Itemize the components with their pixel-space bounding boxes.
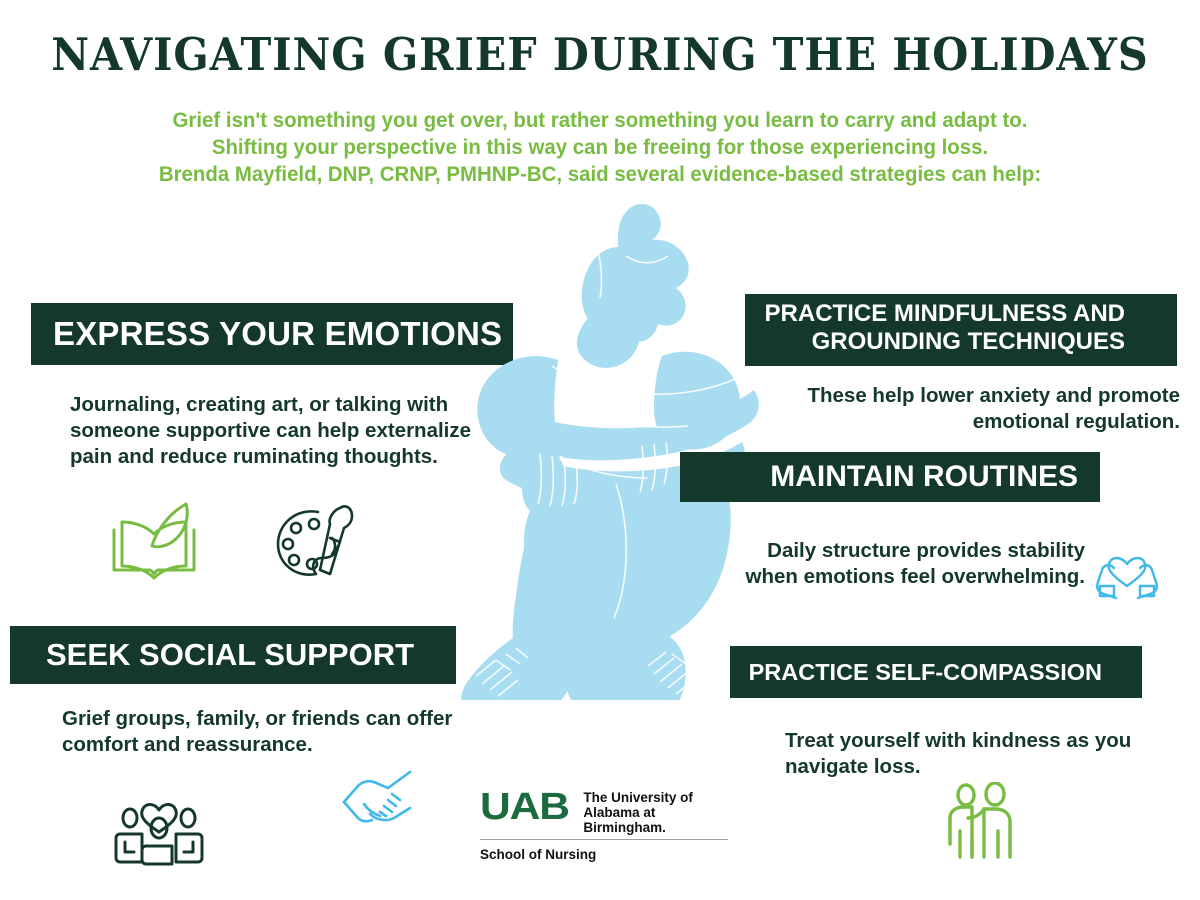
journal-quill-icon — [108, 500, 200, 582]
page-subtitle: Grief isn't something you get over, but … — [30, 107, 1170, 188]
section-heading-practice-self-compassion: PRACTICE SELF-COMPASSION — [730, 646, 1142, 698]
section-body-practice-mindfulness: These help lower anxiety and promote emo… — [760, 383, 1180, 435]
banner-label: MAINTAIN ROUTINES — [770, 460, 1078, 494]
uab-logo-row: UAB The University of Alabama at Birming… — [480, 790, 730, 835]
page-title: NAVIGATING GRIEF DURING THE HOLIDAYS — [48, 28, 1152, 81]
uab-logo-divider — [480, 839, 728, 840]
uab-school-name: School of Nursing — [480, 847, 730, 862]
section-body-practice-self-compassion: Treat yourself with kindness as you navi… — [785, 728, 1145, 780]
subtitle-line-1: Grief isn't something you get over, but … — [30, 107, 1170, 134]
uab-logo: UAB The University of Alabama at Birming… — [480, 790, 730, 862]
section-heading-practice-mindfulness: PRACTICE MINDFULNESS AND GROUNDING TECHN… — [745, 294, 1177, 366]
uab-university-name: The University of Alabama at Birmingham. — [583, 790, 730, 835]
banner-label-line-1: PRACTICE MINDFULNESS AND — [745, 300, 1125, 328]
infographic-poster: NAVIGATING GRIEF DURING THE HOLIDAYS Gri… — [0, 0, 1200, 900]
uab-university-line-2: Alabama at Birmingham. — [583, 805, 730, 835]
hands-holding-heart-icon — [1092, 538, 1162, 600]
banner-label: PRACTICE SELF-COMPASSION — [749, 659, 1102, 686]
banner-label-line-2: GROUNDING TECHNIQUES — [745, 328, 1125, 356]
section-body-seek-social-support: Grief groups, family, or friends can off… — [62, 706, 482, 758]
uab-university-line-1: The University of — [583, 790, 730, 805]
two-people-supporting-icon — [940, 782, 1022, 862]
helping-handshake-icon — [340, 768, 418, 832]
subtitle-line-2: Shifting your perspective in this way ca… — [30, 134, 1170, 161]
section-body-maintain-routines: Daily structure provides stability when … — [715, 538, 1085, 590]
section-heading-seek-social-support: SEEK SOCIAL SUPPORT — [10, 626, 456, 684]
uab-wordmark: UAB — [480, 790, 569, 824]
section-body-express-your-emotions: Journaling, creating art, or talking wit… — [70, 392, 500, 470]
subtitle-line-3: Brenda Mayfield, DNP, CRNP, PMHNP-BC, sa… — [30, 161, 1170, 188]
section-heading-express-your-emotions: EXPRESS YOUR EMOTIONS — [31, 303, 513, 365]
banner-label: SEEK SOCIAL SUPPORT — [46, 637, 414, 673]
art-palette-icon — [270, 498, 360, 582]
banner-label: EXPRESS YOUR EMOTIONS — [53, 315, 502, 353]
section-heading-maintain-routines: MAINTAIN ROUTINES — [680, 452, 1100, 502]
group-with-heart-icon — [112, 790, 207, 868]
